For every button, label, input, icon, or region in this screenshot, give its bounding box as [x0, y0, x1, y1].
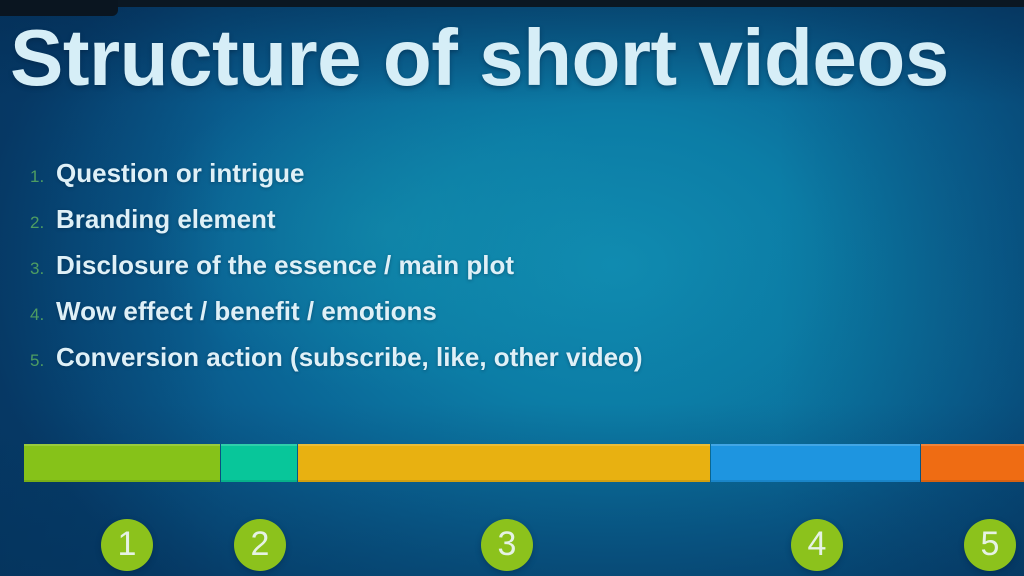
timeline-segment-3-disclosure[interactable] — [298, 444, 710, 482]
list-item-label: Conversion action (subscribe, like, othe… — [56, 342, 643, 373]
list-item: 2.Branding element — [30, 204, 643, 250]
list-item-number: 2. — [30, 213, 56, 233]
list-item: 5.Conversion action (subscribe, like, ot… — [30, 342, 643, 388]
list-item-number: 3. — [30, 259, 56, 279]
list-item-number: 4. — [30, 305, 56, 325]
numbered-list: 1.Question or intrigue2.Branding element… — [30, 158, 643, 388]
timeline-marker-2[interactable]: 2 — [234, 519, 286, 571]
list-item-label: Wow effect / benefit / emotions — [56, 296, 437, 327]
timeline-segment-4-wow[interactable] — [711, 444, 920, 482]
video-letterbox-top — [0, 0, 1024, 7]
list-item-label: Branding element — [56, 204, 276, 235]
timeline-marker-label: 1 — [118, 525, 137, 564]
timeline-marker-4[interactable]: 4 — [791, 519, 843, 571]
timeline-marker-1[interactable]: 1 — [101, 519, 153, 571]
timeline-marker-label: 4 — [808, 525, 827, 564]
timeline-marker-3[interactable]: 3 — [481, 519, 533, 571]
timeline-bar — [0, 444, 1024, 482]
list-item-label: Question or intrigue — [56, 158, 304, 189]
list-item-number: 1. — [30, 167, 56, 187]
slide-title: Structure of short videos — [10, 18, 949, 98]
list-item-number: 5. — [30, 351, 56, 371]
list-item-label: Disclosure of the essence / main plot — [56, 250, 514, 281]
list-item: 1.Question or intrigue — [30, 158, 643, 204]
timeline-segment-1-question[interactable] — [24, 444, 220, 482]
timeline-marker-label: 3 — [498, 525, 517, 564]
timeline-segment-5-conversion[interactable] — [921, 444, 1024, 482]
timeline-marker-label: 2 — [251, 525, 270, 564]
timeline-marker-label: 5 — [981, 525, 1000, 564]
list-item: 3.Disclosure of the essence / main plot — [30, 250, 643, 296]
timeline-segment-2-branding[interactable] — [221, 444, 297, 482]
timeline-marker-5[interactable]: 5 — [964, 519, 1016, 571]
presentation-slide: Structure of short videos 1.Question or … — [0, 0, 1024, 576]
list-item: 4.Wow effect / benefit / emotions — [30, 296, 643, 342]
